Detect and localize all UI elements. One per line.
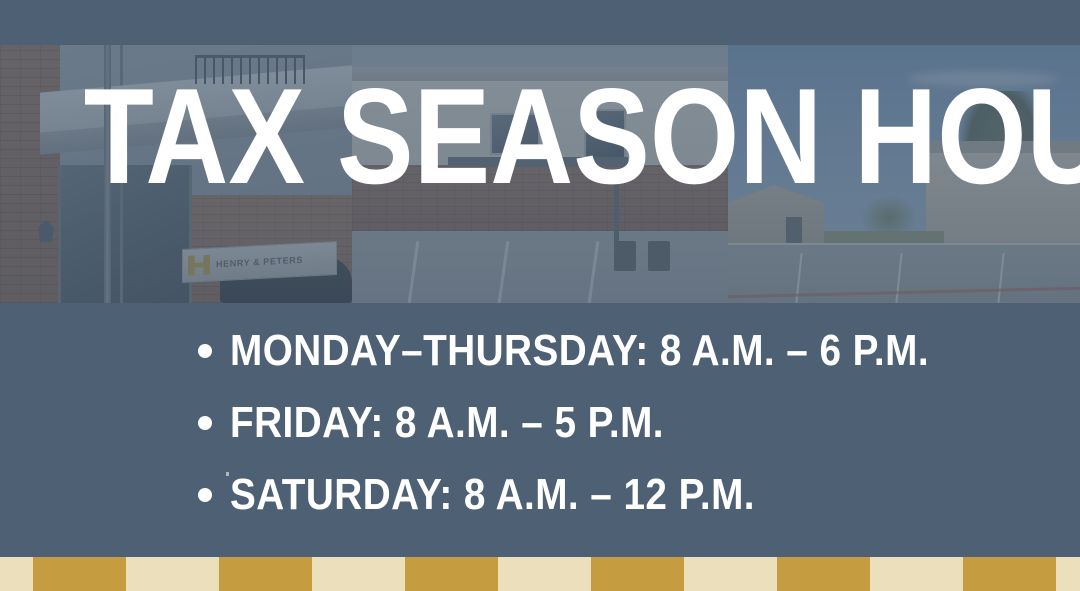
- list-item: MONDAY–THURSDAY: 8 A.M. – 6 P.M.: [0, 315, 1080, 387]
- brick-wall-left: [0, 45, 60, 303]
- list-item: SATURDAY: 8 A.M. – 12 P.M.: [0, 459, 1080, 531]
- trash-bin: [648, 241, 670, 271]
- footer-checker-cell: [405, 557, 498, 591]
- footer-checker-cell: [219, 557, 312, 591]
- hours-line-friday: FRIDAY: 8 A.M. – 5 P.M.: [230, 401, 664, 445]
- bullet-icon: [198, 416, 212, 430]
- footer-checker-cell: [33, 557, 126, 591]
- footer-checker-strip: [0, 557, 1080, 591]
- building-sign-text: HENRY & PETERS: [216, 255, 303, 270]
- hours-list: MONDAY–THURSDAY: 8 A.M. – 6 P.M. FRIDAY:…: [0, 315, 1080, 531]
- h-monogram-icon: [188, 255, 210, 276]
- hours-line-saturday: SATURDAY: 8 A.M. – 12 P.M.: [230, 473, 755, 517]
- trash-bin: [614, 241, 636, 271]
- footer-checker-cell: [126, 557, 219, 591]
- footer-checker-cell: [684, 557, 777, 591]
- page-title: TAX SEASON HOURS: [84, 68, 997, 204]
- bullet-icon: [198, 488, 212, 502]
- footer-checker-cell: [498, 557, 591, 591]
- footer-checker-cell: [312, 557, 405, 591]
- tax-season-hours-banner: HENRY & PETERS: [0, 0, 1080, 591]
- footer-checker-cell: [777, 557, 870, 591]
- list-item: FRIDAY: 8 A.M. – 5 P.M.: [0, 387, 1080, 459]
- footer-checker-cell: [0, 557, 33, 591]
- hours-line-monday-thursday: MONDAY–THURSDAY: 8 A.M. – 6 P.M.: [230, 329, 929, 373]
- footer-checker-cell: [1056, 557, 1080, 591]
- footer-checker-cell: [963, 557, 1056, 591]
- bullet-icon: [198, 344, 212, 358]
- image-speck: [226, 472, 229, 476]
- footer-checker-cell: [870, 557, 963, 591]
- footer-checker-cell: [591, 557, 684, 591]
